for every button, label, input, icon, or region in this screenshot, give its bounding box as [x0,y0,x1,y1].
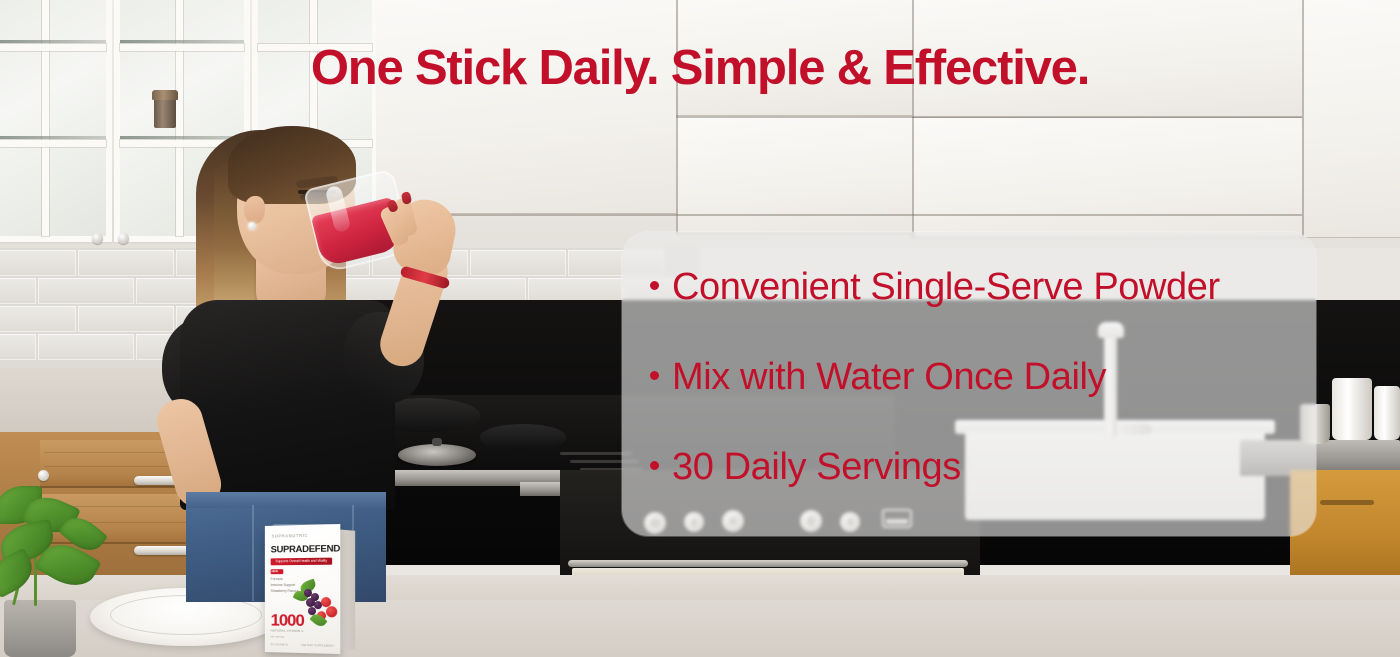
promo-banner: SUPRANUTRIC SUPRADEFEND Supports Overall… [0,0,1400,657]
bullet-dot-icon [650,461,659,470]
benefit-item: Mix with Water Once Daily [650,358,1290,396]
benefit-item: Convenient Single-Serve Powder [650,268,1290,306]
product-title: SUPRADEFEND [271,543,340,555]
product-amount-sub2: per serving [271,634,284,638]
benefit-label: Convenient Single-Serve Powder [672,268,1220,306]
product-subtitle: Supports Overall Health and Vitality [271,558,332,566]
benefit-label: Mix with Water Once Daily [672,358,1106,396]
berry [326,606,337,617]
bullet-dot-icon [650,371,659,380]
ear [244,196,265,224]
product-box: SUPRANUTRIC SUPRADEFEND Supports Overall… [256,519,358,654]
product-footer-right: DIETARY SUPPLEMENT [301,643,334,648]
benefits-panel: Convenient Single-Serve Powder Mix with … [622,232,1316,536]
benefit-label: 30 Daily Servings [672,448,961,486]
page-title: One Stick Daily. Simple & Effective. [0,44,1400,93]
product-footer-left: 30 SACHETS [271,642,288,646]
bullet-dot-icon [650,281,659,290]
jeans-waistband [186,492,386,508]
product-brand: SUPRANUTRIC [272,533,308,539]
benefits-list: Convenient Single-Serve Powder Mix with … [650,268,1290,486]
benefit-item: 30 Daily Servings [650,448,1290,486]
product-amount-sub: NATURAL VITAMIN C [271,628,304,633]
product-features: Formula Immune Support Strawberry Flavou… [271,571,299,594]
earring [248,222,256,230]
product-box-front: SUPRANUTRIC SUPRADEFEND Supports Overall… [265,524,340,654]
